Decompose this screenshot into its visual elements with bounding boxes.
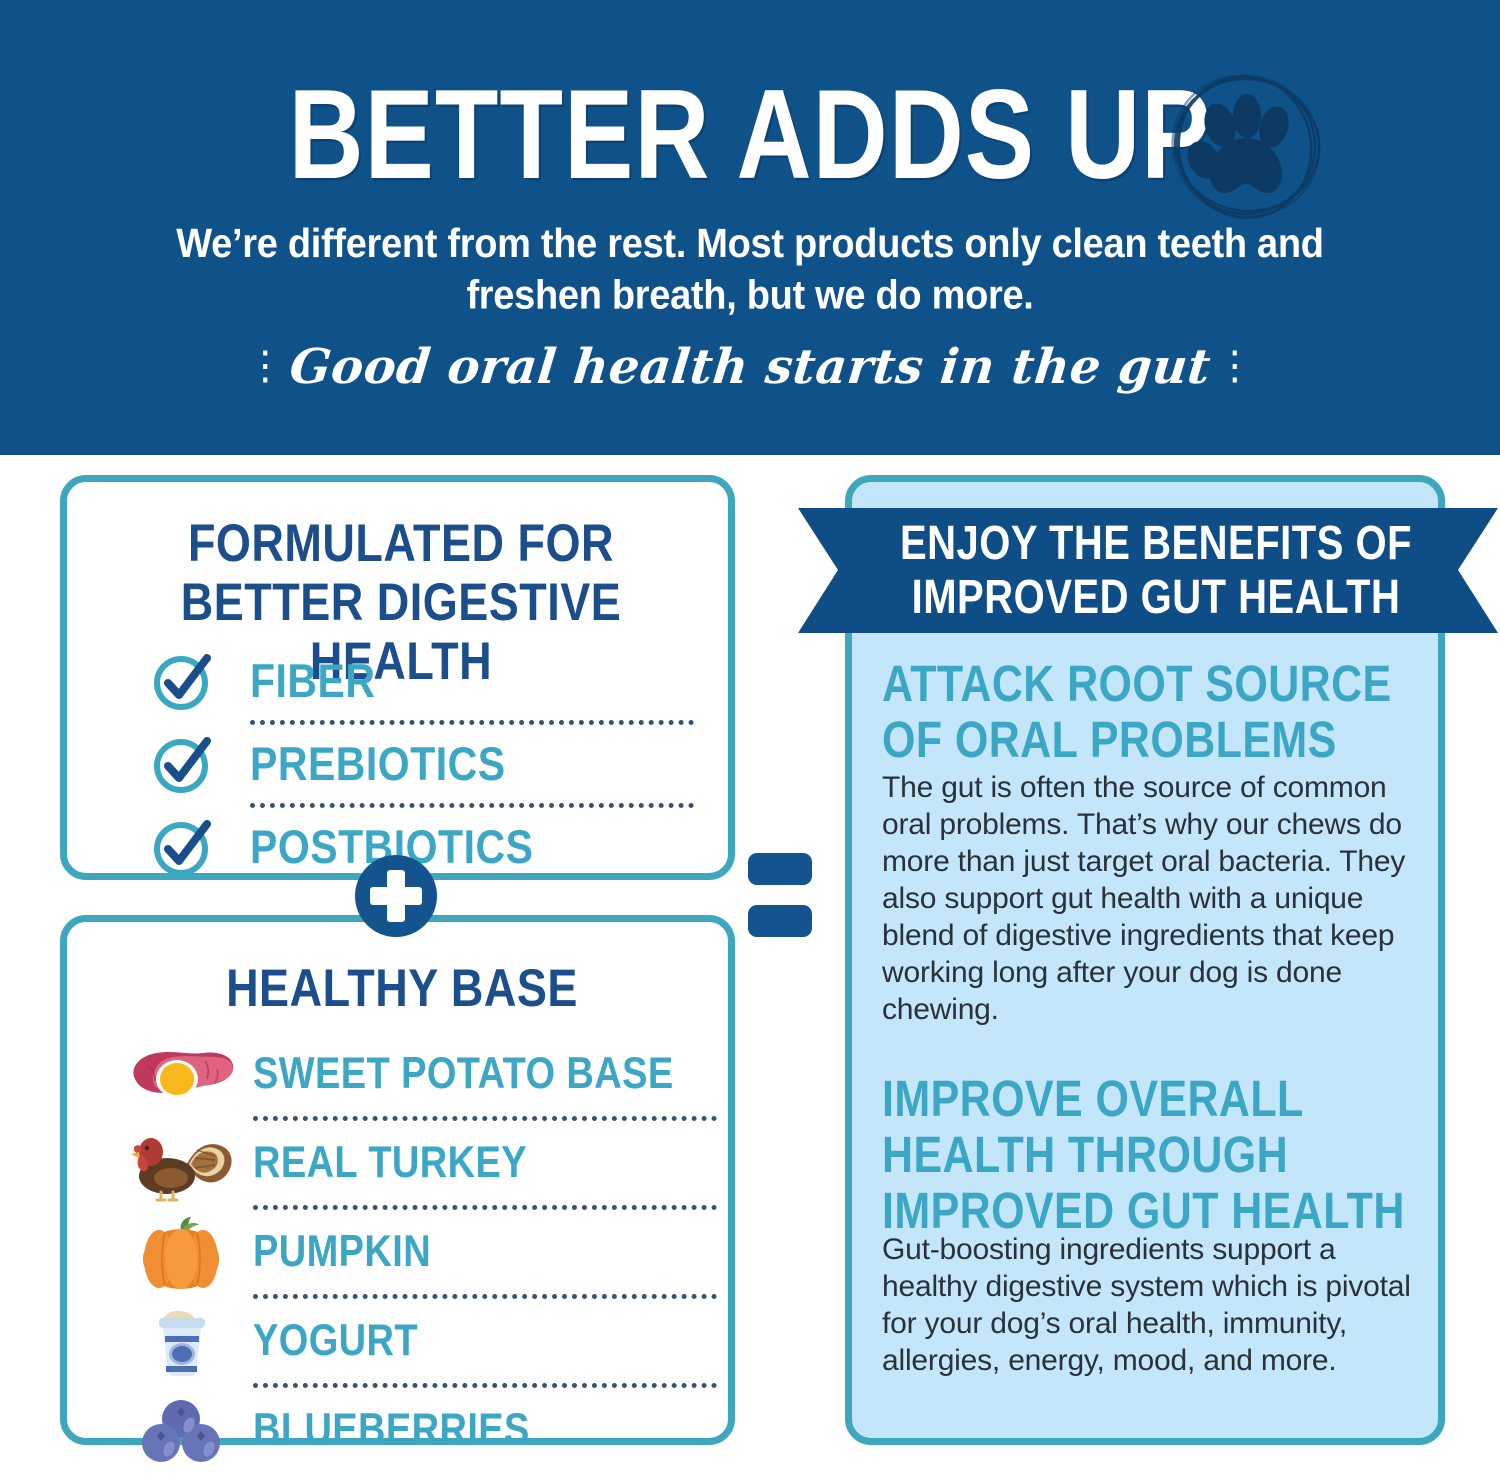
check-circle-icon (152, 816, 214, 878)
dotted-divider (253, 1383, 717, 1388)
healthy-base-panel-title: HEALTHY BASE (97, 960, 707, 1017)
dotted-divider (253, 1294, 717, 1299)
header-banner: BETTER ADDS UP We’re different from the … (0, 0, 1500, 455)
list-item-label: PUMPKIN (253, 1227, 431, 1277)
script-mark-left: ⋮ (245, 343, 285, 389)
benefit-heading: IMPROVE OVERALL HEALTH THROUGH IMPROVED … (882, 1072, 1427, 1240)
formulated-item-list: FIBER PREBIOTICS (152, 642, 712, 886)
list-item-label: YOGURT (253, 1316, 418, 1366)
list-item: POSTBIOTICS (152, 808, 712, 886)
equals-icon (748, 853, 814, 943)
dotted-divider (253, 1205, 717, 1210)
header-subtitle: We’re different from the rest. Most prod… (150, 218, 1350, 322)
dotted-divider (253, 1116, 717, 1121)
benefits-ribbon-banner: ENJOY THE BENEFITS OF IMPROVED GUT HEALT… (798, 508, 1498, 633)
dotted-divider (250, 720, 694, 725)
blueberries-icon (125, 1391, 237, 1469)
benefit-body: Gut-boosting ingredients support a healt… (882, 1231, 1427, 1379)
script-mark-right: ⋮ (1215, 343, 1255, 389)
header-script-wrapper: ⋮ Good oral health starts in the gut ⋮ (0, 336, 1500, 398)
list-item-label: REAL TURKEY (253, 1138, 527, 1188)
list-item-label: PREBIOTICS (250, 737, 506, 792)
formulated-panel: FORMULATED FOR BETTER DIGESTIVE HEALTH F… (60, 475, 735, 880)
benefit-block: IMPROVE OVERALL HEALTH THROUGH IMPROVED … (882, 1072, 1427, 1379)
equals-bar-top (748, 853, 812, 885)
benefit-block: ATTACK ROOT SOURCE OF ORAL PROBLEMS The … (882, 657, 1427, 1028)
list-item: PUMPKIN (125, 1210, 725, 1294)
benefits-ribbon-title: ENJOY THE BENEFITS OF IMPROVED GUT HEALT… (798, 517, 1498, 625)
check-circle-icon (152, 733, 214, 795)
list-item: YOGURT (125, 1299, 725, 1383)
dotted-divider (250, 803, 694, 808)
sweet-potato-icon (125, 1035, 237, 1113)
plus-circle-icon (355, 855, 437, 937)
pumpkin-icon (125, 1213, 237, 1291)
equals-bar-bottom (748, 905, 812, 937)
list-item: PREBIOTICS (152, 725, 712, 803)
benefit-heading: ATTACK ROOT SOURCE OF ORAL PROBLEMS (882, 657, 1427, 769)
turkey-icon (125, 1124, 237, 1202)
list-item-label: BLUEBERRIES (253, 1405, 530, 1455)
list-item: BLUEBERRIES (125, 1388, 725, 1472)
benefit-body: The gut is often the source of common or… (882, 769, 1427, 1028)
list-item: SWEET POTATO BASE (125, 1032, 725, 1116)
yogurt-cup-icon (125, 1302, 237, 1380)
paw-print-icon (1168, 68, 1324, 224)
content-area: FORMULATED FOR BETTER DIGESTIVE HEALTH F… (0, 455, 1500, 1464)
list-item: FIBER (152, 642, 712, 720)
list-item: REAL TURKEY (125, 1121, 725, 1205)
healthy-base-panel: HEALTHY BASE SWEET POTATO BASE (60, 915, 735, 1445)
ingredient-list: SWEET POTATO BASE (125, 1032, 725, 1472)
list-item-label: SWEET POTATO BASE (253, 1049, 674, 1099)
header-script-line: Good oral health starts in the gut (286, 336, 1213, 398)
check-circle-icon (152, 650, 214, 712)
list-item-label: FIBER (250, 654, 376, 709)
